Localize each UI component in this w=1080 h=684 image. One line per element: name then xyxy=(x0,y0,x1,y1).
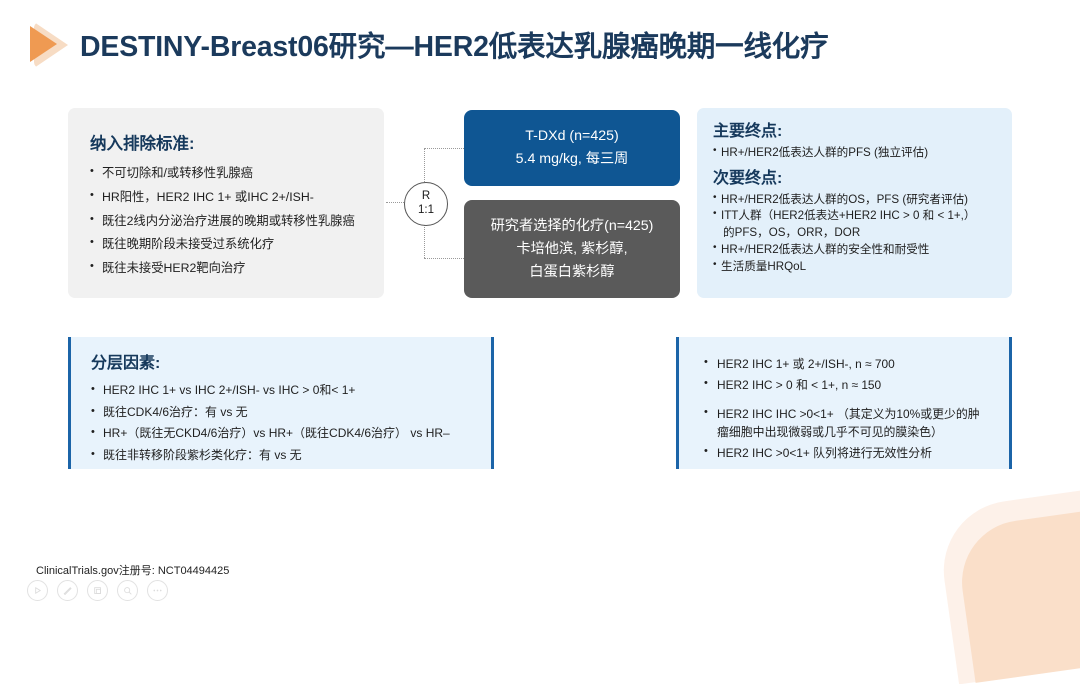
stratification-panel: 分层因素: HER2 IHC 1+ vs IHC 2+/ISH- vs IHC … xyxy=(68,337,494,469)
list-item: HR+/HER2低表达人群的OS，PFS (研究者评估) xyxy=(713,192,1000,209)
slide-title-row: DESTINY-Breast06研究—HER2低表达乳腺癌晚期一线化疗 xyxy=(28,16,828,72)
registration-note: ClinicalTrials.gov注册号: NCT04494425 xyxy=(36,562,229,578)
list-item-continuation: 的PFS，OS，ORR，DOR xyxy=(721,225,1000,242)
criteria-panel: 纳入排除标准: 不可切除和/或转移性乳腺癌 HR阳性，HER2 IHC 1+ 或… xyxy=(68,108,384,298)
criteria-heading: 纳入排除标准: xyxy=(90,134,366,155)
list-item-continuation: 瘤细胞中出现微弱或几乎不可见的膜染色） xyxy=(717,423,999,441)
pen-icon[interactable] xyxy=(57,580,78,601)
arm-line: 白蛋白紫杉醇 xyxy=(529,261,614,284)
list-item-text: HER2 IHC IHC >0<1+ （其定义为10%或更少的肿 xyxy=(717,407,980,421)
page-title: DESTINY-Breast06研究—HER2低表达乳腺癌晚期一线化疗 xyxy=(80,24,828,65)
population-list: HER2 IHC 1+ 或 2+/ISH-, n ≈ 700 HER2 IHC … xyxy=(703,355,999,462)
slide-toolbar[interactable] xyxy=(27,580,168,601)
list-item: HER2 IHC > 0 和 < 1+, n ≈ 150 xyxy=(703,376,999,394)
list-item: HR阳性，HER2 IHC 1+ 或IHC 2+/ISH- xyxy=(90,186,366,210)
stratification-list: HER2 IHC 1+ vs IHC 2+/ISH- vs IHC > 0和< … xyxy=(91,380,479,467)
list-item: 既往晚期阶段未接受过系统化疗 xyxy=(90,233,366,257)
list-item: HR+/HER2低表达人群的安全性和耐受性 xyxy=(713,242,1000,259)
more-icon[interactable] xyxy=(147,580,168,601)
list-item-text: HER2 IHC >0<1+ 队列将进行无效性分析 xyxy=(717,446,932,460)
secondary-endpoint-heading: 次要终点: xyxy=(713,169,1000,190)
list-item: HR+/HER2低表达人群的PFS (独立评估) xyxy=(713,145,1000,162)
randomization-ratio: 1:1 xyxy=(418,204,434,218)
treatment-arm-control: 研究者选择的化疗(n=425) 卡培他滨, 紫杉醇, 白蛋白紫杉醇 xyxy=(464,200,680,298)
arm-line: 5.4 mg/kg, 每三周 xyxy=(516,148,629,171)
criteria-list: 不可切除和/或转移性乳腺癌 HR阳性，HER2 IHC 1+ 或IHC 2+/I… xyxy=(90,162,366,280)
list-item: ITT人群（HER2低表达+HER2 IHC > 0 和 < 1+,） 的PFS… xyxy=(713,208,1000,242)
arm-line: T-DXd (n=425) xyxy=(525,125,618,148)
list-item: HER2 IHC 1+ 或 2+/ISH-, n ≈ 700 xyxy=(703,355,999,373)
endpoints-panel: 主要终点: HR+/HER2低表达人群的PFS (独立评估) 次要终点: HR+… xyxy=(697,108,1012,298)
arm-line: 研究者选择的化疗(n=425) xyxy=(491,215,654,238)
list-item-text: ITT人群（HER2低表达+HER2 IHC > 0 和 < 1+,） xyxy=(721,209,975,222)
list-item: HER2 IHC >0<1+ 队列将进行无效性分析 xyxy=(703,444,999,462)
population-panel: HER2 IHC 1+ 或 2+/ISH-, n ≈ 700 HER2 IHC … xyxy=(676,337,1012,469)
list-item-text: HER2 IHC 1+ 或 2+/ISH-, n ≈ 700 xyxy=(717,357,895,371)
list-item: 既往CDK4/6治疗：有 vs 无 xyxy=(91,402,479,424)
copy-icon[interactable] xyxy=(87,580,108,601)
list-item-text: HR+/HER2低表达人群的OS，PFS (研究者评估) xyxy=(721,193,968,206)
primary-endpoint-heading: 主要终点: xyxy=(713,122,1000,143)
list-item: HR+（既往无CKD4/6治疗）vs HR+（既往CDK4/6治疗） vs HR… xyxy=(91,423,479,445)
list-item: 生活质量HRQoL xyxy=(713,259,1000,276)
randomization-node: R 1:1 xyxy=(404,182,448,226)
list-item: HER2 IHC 1+ vs IHC 2+/ISH- vs IHC > 0和< … xyxy=(91,380,479,402)
list-item: 既往未接受HER2靶向治疗 xyxy=(90,257,366,281)
randomization-label: R xyxy=(422,190,430,204)
connector-line-top xyxy=(424,148,466,149)
list-item: 既往非转移阶段紫杉类化疗：有 vs 无 xyxy=(91,445,479,467)
list-item-text: 生活质量HRQoL xyxy=(721,260,806,273)
secondary-endpoint-list: HR+/HER2低表达人群的OS，PFS (研究者评估) ITT人群（HER2低… xyxy=(713,192,1000,277)
arm-line: 卡培他滨, 紫杉醇, xyxy=(516,238,627,261)
list-item-text: HR+/HER2低表达人群的安全性和耐受性 xyxy=(721,243,929,256)
stratification-heading: 分层因素: xyxy=(91,354,479,375)
search-icon[interactable] xyxy=(117,580,138,601)
play-icon[interactable] xyxy=(27,580,48,601)
connector-line-bottom xyxy=(424,258,466,259)
treatment-arm-experimental: T-DXd (n=425) 5.4 mg/kg, 每三周 xyxy=(464,110,680,186)
connector-line-left xyxy=(386,202,406,203)
list-item: 既往2线内分泌治疗进展的晚期或转移性乳腺癌 xyxy=(90,210,366,234)
play-arrow-icon xyxy=(28,20,74,68)
list-item-text: HER2 IHC > 0 和 < 1+, n ≈ 150 xyxy=(717,378,881,392)
primary-endpoint-list: HR+/HER2低表达人群的PFS (独立评估) xyxy=(713,145,1000,162)
list-item: HER2 IHC IHC >0<1+ （其定义为10%或更少的肿 瘤细胞中出现微… xyxy=(703,405,999,441)
list-item: 不可切除和/或转移性乳腺癌 xyxy=(90,162,366,186)
